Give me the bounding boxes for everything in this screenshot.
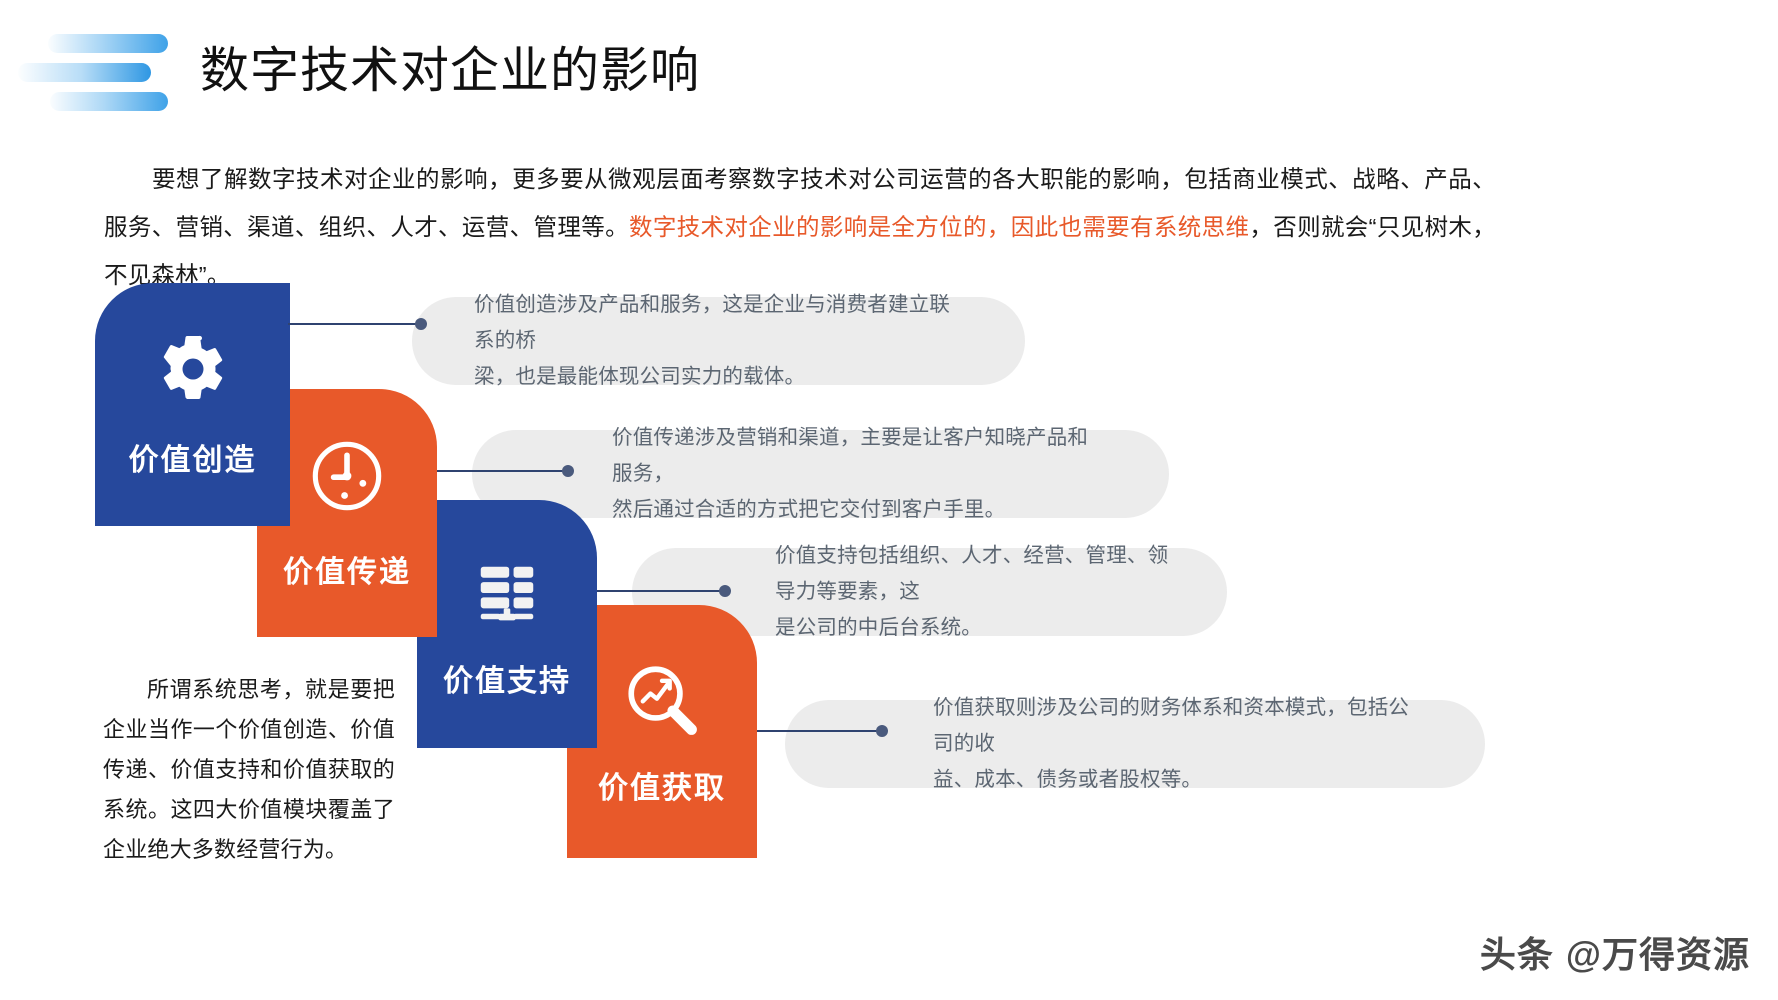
connector-line-1 xyxy=(288,323,421,325)
toutiao-logo-icon: 头条 xyxy=(1480,926,1554,978)
clock-icon xyxy=(308,437,386,520)
card-label-value-creation: 价值创造 xyxy=(95,435,290,479)
watermark-handle: @万得资源 xyxy=(1566,926,1750,978)
card-label-value-capture: 价值获取 xyxy=(567,763,757,807)
card-label-value-delivery: 价值传递 xyxy=(257,547,437,591)
card-value-support[interactable]: 价值支持 xyxy=(417,500,597,748)
connector-line-3 xyxy=(597,590,725,592)
server-icon xyxy=(472,558,542,633)
connector-dot-4 xyxy=(876,725,888,737)
connector-dot-1 xyxy=(415,318,427,330)
system-thinking-note: 所谓系统思考，就是要把企业当作一个价值创造、价值传递、价值支持和价值获取的系统。… xyxy=(103,670,395,870)
connector-line-4 xyxy=(757,730,882,732)
card-label-value-support: 价值支持 xyxy=(417,656,597,700)
connector-dot-3 xyxy=(719,585,731,597)
magnifier-chart-icon xyxy=(621,659,703,746)
slide-canvas: 数字技术对企业的影响 要想了解数字技术对企业的影响，更多要从微观层面考察数字技术… xyxy=(0,0,1778,1000)
connector-dot-2 xyxy=(562,465,574,477)
gear-icon xyxy=(157,333,229,410)
watermark: 头条 @万得资源 xyxy=(1480,926,1750,978)
card-value-creation[interactable]: 价值创造 xyxy=(95,283,290,526)
connector-line-2 xyxy=(437,470,568,472)
